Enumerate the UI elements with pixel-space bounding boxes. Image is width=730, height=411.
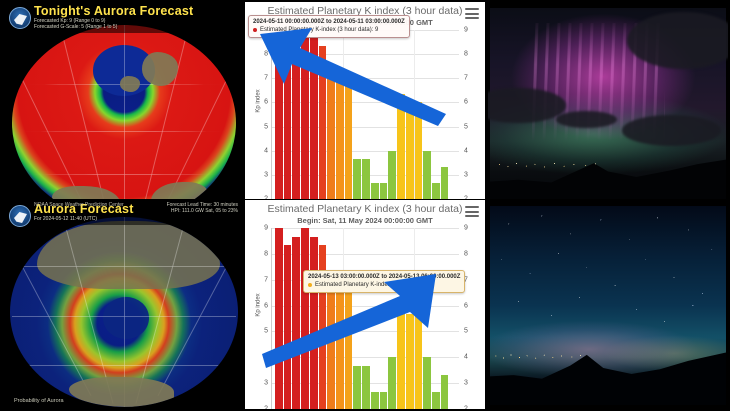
- chart-y-tick-right: 9: [464, 27, 468, 34]
- chart-y-tick-right: 2: [464, 196, 468, 200]
- tooltip-value: Estimated Planetary K-index (3 hour data…: [315, 281, 433, 289]
- chart-tooltip-top: 2024-05-11 00:00:00.000Z to 2024-05-11 0…: [248, 15, 410, 38]
- chart-y-tick-right: 7: [464, 75, 468, 82]
- chart-bar[interactable]: [301, 228, 309, 409]
- chart-y-tick-right: 9: [464, 225, 468, 232]
- chart-y-axis-label: Kp index: [256, 89, 262, 112]
- chart-bar[interactable]: [353, 366, 361, 409]
- chart-y-tick-right: 4: [464, 147, 468, 154]
- noaa-logo-icon: [9, 7, 31, 29]
- chart-bar[interactable]: [397, 297, 405, 409]
- city-lights: [492, 351, 586, 361]
- chart-bar[interactable]: [353, 159, 361, 199]
- map-subtitle-gscale: Forecasted G-Scale: 5 (Range 1 to 5): [34, 24, 238, 30]
- chart-y-tick-left: 6: [264, 99, 268, 106]
- chart-y-tick-right: 4: [464, 354, 468, 361]
- map-lead-time: Forecast Lead Time: 30 minutes HPI: 111.…: [167, 202, 238, 214]
- tooltip-marker-icon: [253, 28, 257, 32]
- chart-y-tick-left: 4: [264, 354, 268, 361]
- tooltip-series-row: Estimated Planetary K-index (3 hour data…: [253, 26, 405, 34]
- map-agency-line: NOAA Space Weather Prediction Center: [34, 202, 124, 208]
- chart-bars: [272, 228, 459, 409]
- landmass-greenland: [142, 52, 178, 85]
- chart-y-tick-left: 3: [264, 380, 268, 387]
- chart-bar[interactable]: [362, 366, 370, 409]
- chart-y-axis-label: Kp index: [256, 293, 262, 316]
- chart-plot-area: 2233445566778899: [271, 30, 459, 199]
- chart-bar[interactable]: [371, 392, 379, 409]
- chart-bar[interactable]: [415, 102, 423, 199]
- chart-y-tick-left: 7: [264, 276, 268, 283]
- chart-y-tick-right: 6: [464, 302, 468, 309]
- noaa-logo-icon: [9, 205, 31, 227]
- screenshot-root: Tonight's Aurora Forecast Forecasted Kp:…: [0, 0, 730, 411]
- photo-canvas-aurora-curtains: [488, 2, 728, 201]
- chart-plot-area: 2233445566778899: [271, 228, 459, 409]
- globe-graphic-probability: [10, 217, 238, 407]
- chart-y-tick-right: 6: [464, 99, 468, 106]
- chart-y-tick-left: 8: [264, 51, 268, 58]
- map-hpi-line: HPI: 111.0 GW Sat, 05 to 23%: [167, 208, 238, 214]
- chart-bar[interactable]: [301, 30, 309, 199]
- chart-bar[interactable]: [319, 46, 327, 199]
- starry-sky-gradient: [490, 206, 726, 405]
- chart-bar[interactable]: [345, 288, 353, 409]
- chart-y-tick-left: 5: [264, 328, 268, 335]
- chart-y-tick-left: 2: [264, 196, 268, 200]
- chart-bar[interactable]: [432, 392, 440, 409]
- map-header-tonight: Tonight's Aurora Forecast Forecasted Kp:…: [4, 3, 242, 33]
- chart-bar[interactable]: [327, 70, 335, 199]
- chart-y-tick-left: 7: [264, 75, 268, 82]
- tooltip-range: 2024-05-11 00:00:00.000Z to 2024-05-11 0…: [253, 18, 405, 26]
- chart-y-tick-left: 4: [264, 147, 268, 154]
- chart-y-tick-right: 5: [464, 123, 468, 130]
- chart-bar[interactable]: [388, 357, 396, 409]
- chart-y-tick-right: 2: [464, 406, 468, 410]
- chart-bar[interactable]: [275, 30, 283, 199]
- chart-bar[interactable]: [292, 237, 300, 409]
- map-footer-legend: Probability of Aurora: [14, 398, 64, 404]
- chart-bar[interactable]: [423, 151, 431, 199]
- hamburger-menu-icon[interactable]: [465, 8, 479, 19]
- chart-bar[interactable]: [406, 314, 414, 409]
- chart-bar[interactable]: [336, 78, 344, 199]
- chart-y-tick-left: 3: [264, 171, 268, 178]
- chart-bar[interactable]: [310, 237, 318, 409]
- aurora-photo-bottom[interactable]: [488, 203, 728, 408]
- photo-canvas-starry-sky: [488, 203, 728, 408]
- tooltip-series-row: Estimated Planetary K-index (3 hour data…: [308, 281, 460, 289]
- chart-y-tick-right: 3: [464, 171, 468, 178]
- kindex-chart-top[interactable]: Estimated Planetary K index (3 hour data…: [245, 2, 485, 199]
- chart-tooltip-bottom: 2024-05-13 03:00:00.000Z to 2024-05-13 0…: [303, 270, 465, 293]
- chart-bar[interactable]: [284, 245, 292, 409]
- chart-bar[interactable]: [380, 183, 388, 199]
- chart-bar[interactable]: [292, 38, 300, 199]
- map-title-tonight: Tonight's Aurora Forecast: [34, 5, 238, 18]
- chart-y-tick-right: 3: [464, 380, 468, 387]
- lat-lon-grid: [12, 25, 236, 199]
- chart-bar[interactable]: [441, 375, 449, 409]
- chart-bar[interactable]: [345, 86, 353, 199]
- chart-bar[interactable]: [362, 159, 370, 199]
- chart-bar[interactable]: [432, 183, 440, 199]
- chart-y-tick-left: 2: [264, 406, 268, 410]
- globe-graphic-tonight: [12, 25, 236, 199]
- hamburger-menu-icon[interactable]: [465, 206, 479, 217]
- tooltip-value: Estimated Planetary K-index (3 hour data…: [260, 26, 378, 34]
- chart-bar[interactable]: [310, 38, 318, 199]
- chart-bar[interactable]: [397, 94, 405, 199]
- chart-y-tick-right: 5: [464, 328, 468, 335]
- cloud-right-low: [622, 115, 721, 146]
- chart-bars: [272, 30, 459, 199]
- chart-bar[interactable]: [388, 151, 396, 199]
- tooltip-marker-icon: [308, 283, 312, 287]
- chart-y-tick-left: 6: [264, 302, 268, 309]
- chart-y-tick-left: 8: [264, 250, 268, 257]
- chart-bar[interactable]: [336, 280, 344, 409]
- chart-subtitle: Begin: Sat, 11 May 2024 00:00:00 GMT: [245, 216, 485, 226]
- night-sky-gradient: [490, 8, 726, 199]
- chart-bar[interactable]: [441, 167, 449, 199]
- chart-bar[interactable]: [380, 392, 388, 409]
- map-canvas-probability: Aurora Forecast For 2024-05-12 11:40 (UT…: [4, 201, 242, 407]
- aurora-photo-top[interactable]: [488, 2, 728, 201]
- chart-y-tick-right: 8: [464, 51, 468, 58]
- tooltip-range: 2024-05-13 03:00:00.000Z to 2024-05-13 0…: [308, 273, 460, 281]
- aurora-forecast-map-tonight[interactable]: Tonight's Aurora Forecast Forecasted Kp:…: [4, 3, 242, 199]
- chart-bar[interactable]: [423, 357, 431, 409]
- kindex-chart-bottom[interactable]: Estimated Planetary K index (3 hour data…: [245, 200, 485, 409]
- chart-y-tick-right: 8: [464, 250, 468, 257]
- aurora-forecast-map-probability[interactable]: Aurora Forecast For 2024-05-12 11:40 (UT…: [4, 201, 242, 407]
- chart-bar[interactable]: [275, 228, 283, 409]
- chart-y-tick-left: 9: [264, 225, 268, 232]
- chart-bar[interactable]: [406, 110, 414, 199]
- map-subtitle-timestamp: For 2024-05-12 11:40 (UTC): [34, 216, 238, 222]
- chart-y-tick-left: 5: [264, 123, 268, 130]
- chart-bar[interactable]: [415, 306, 423, 409]
- chart-bar[interactable]: [284, 46, 292, 199]
- map-canvas-tonight: Tonight's Aurora Forecast Forecasted Kp:…: [4, 3, 242, 199]
- chart-bar[interactable]: [371, 183, 379, 199]
- landmass-arctic-islands: [120, 76, 140, 92]
- chart-title: Estimated Planetary K index (3 hour data…: [245, 200, 485, 216]
